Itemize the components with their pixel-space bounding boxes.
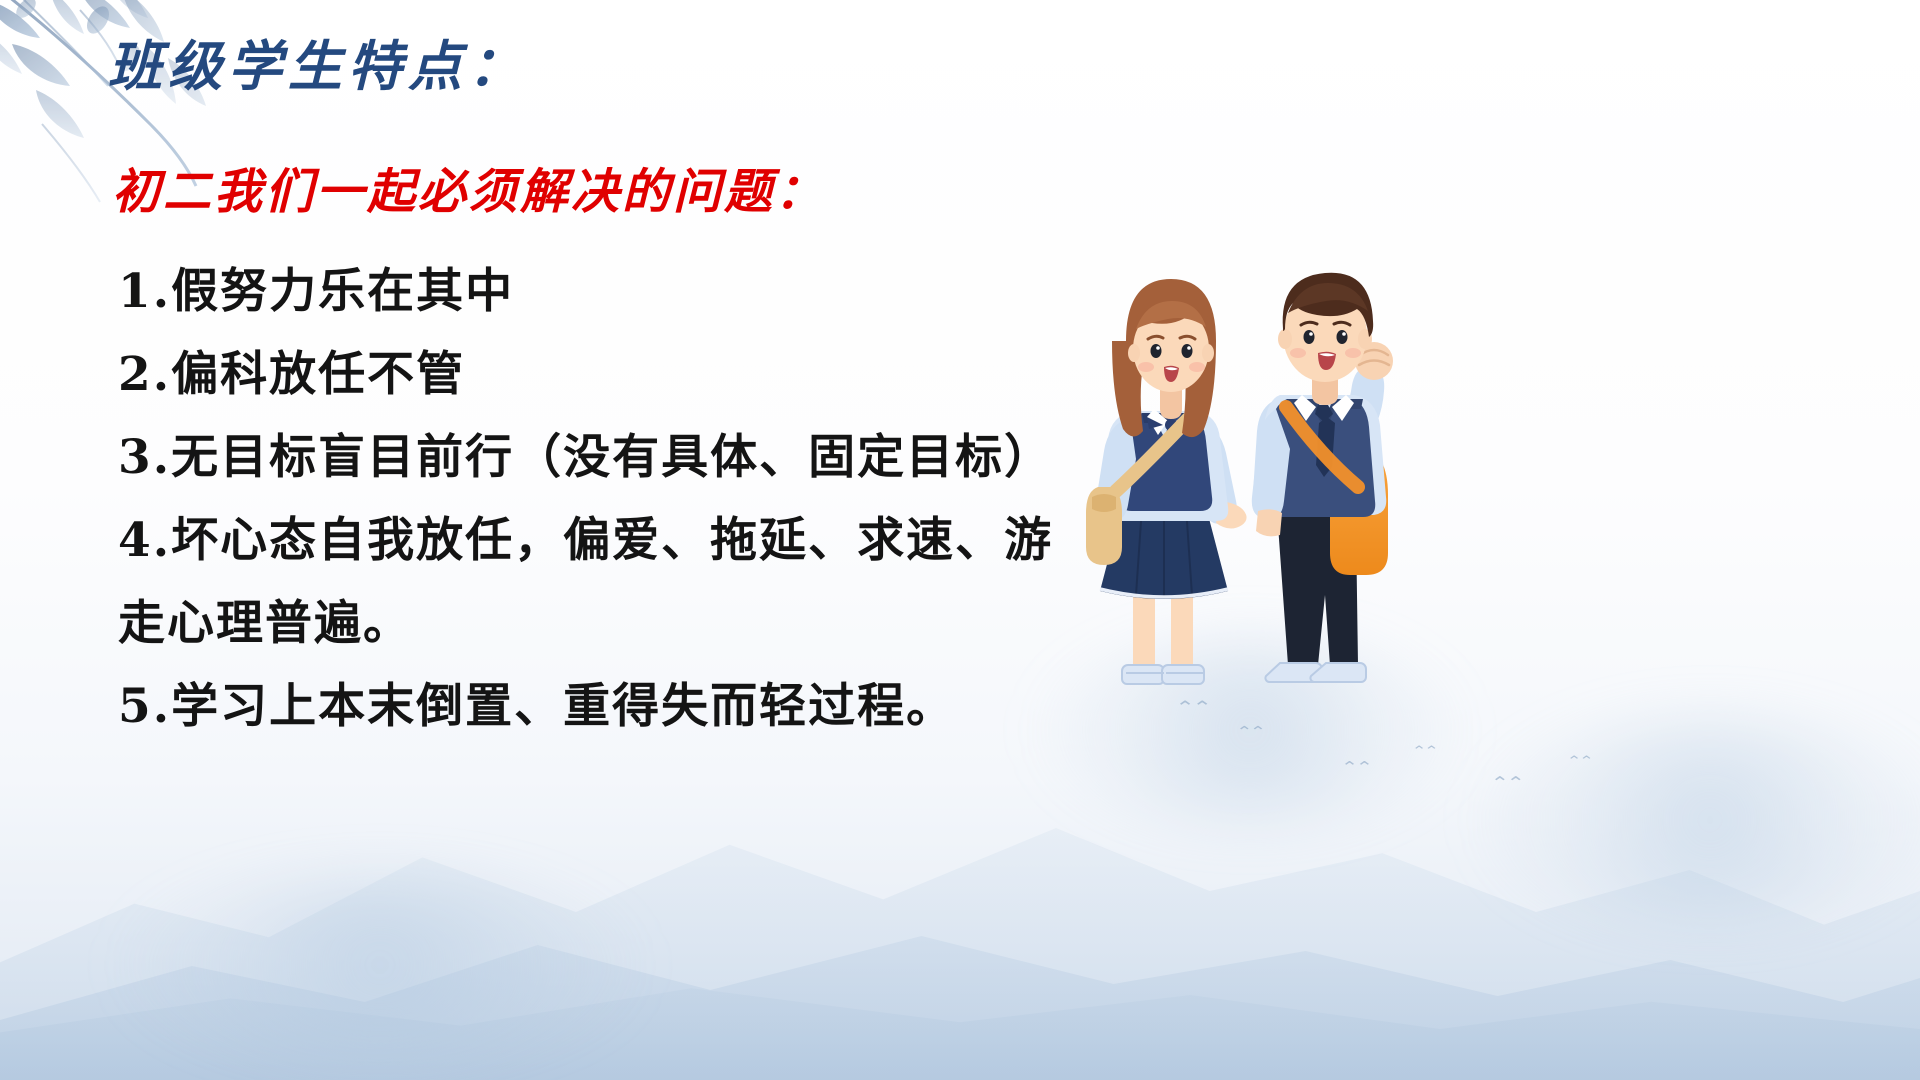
bird-stroke-icon: ⌃⌃ bbox=[1566, 755, 1591, 768]
boy-figure bbox=[1252, 273, 1393, 682]
page-title: 班级学生特点： bbox=[108, 22, 528, 101]
ink-wash-mid-layer bbox=[0, 780, 1920, 1080]
bird-stroke-icon: ⌃⌃ bbox=[1490, 775, 1522, 791]
bird-stroke-icon: ⌃⌃ bbox=[1341, 760, 1371, 775]
list-item: 4.坏心态自我放任，偏爱、拖延、求速、游 bbox=[118, 499, 1118, 582]
ink-wash-blob bbox=[120, 880, 640, 1050]
ink-wash-near-layer bbox=[0, 910, 1920, 1080]
bird-stroke-icon: ⌃⌃ bbox=[1411, 745, 1436, 758]
problem-list: 1.假努力乐在其中 2.偏科放任不管 3.无目标盲目前行（没有具体、固定目标） … bbox=[118, 250, 1118, 748]
slide-canvas: ⌃⌃ ⌃⌃ ⌃⌃ ⌃⌃ ⌃⌃ ⌃⌃ bbox=[0, 0, 1920, 1080]
list-item-continuation: 走心理普遍。 bbox=[118, 582, 1118, 665]
students-illustration bbox=[1030, 195, 1460, 740]
list-item: 5.学习上本末倒置、重得失而轻过程。 bbox=[118, 665, 1118, 748]
list-item: 2.偏科放任不管 bbox=[118, 333, 1118, 416]
list-item: 3.无目标盲目前行（没有具体、固定目标） bbox=[118, 416, 1118, 499]
ink-wash-blob bbox=[1480, 720, 1920, 920]
section-heading: 初二我们一起必须解决的问题： bbox=[112, 152, 826, 222]
girl-figure bbox=[1086, 279, 1247, 684]
list-item: 1.假努力乐在其中 bbox=[118, 250, 1118, 333]
